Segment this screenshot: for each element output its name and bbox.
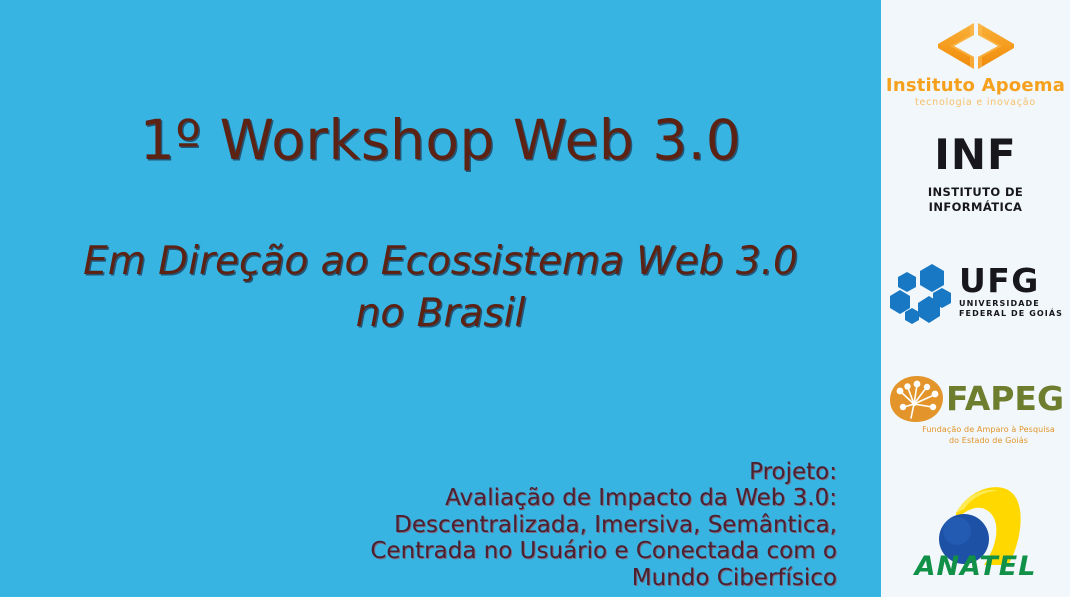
fapeg-subtitle-line-2: do Estado de Goiás <box>922 436 1055 447</box>
logo-fapeg: FAPEG Fundação de Amparo à Pesquisa do E… <box>881 355 1070 465</box>
apoema-tagline: tecnologia e inovação <box>915 97 1036 108</box>
inf-subtitle-line-2: INFORMÁTICA <box>929 200 1023 214</box>
presentation-slide: 1º Workshop Web 3.0 Em Direção ao Ecossi… <box>0 0 1070 597</box>
slide-main-area: 1º Workshop Web 3.0 Em Direção ao Ecossi… <box>0 0 881 597</box>
logo-instituto-apoema: Instituto Apoema tecnologia e inovação <box>881 0 1070 118</box>
subtitle-line-1: Em Direção ao Ecossistema Web 3.0 <box>0 236 881 288</box>
hexagon-cluster-icon <box>888 260 954 326</box>
anatel-name: ANATEL <box>915 553 1037 580</box>
apoema-name: Instituto Apoema <box>886 75 1065 96</box>
fapeg-name: FAPEG <box>946 382 1064 415</box>
fapeg-subtitle-line-1: Fundação de Amparo à Pesquisa <box>922 425 1055 436</box>
brain-network-icon <box>887 374 949 424</box>
project-line-4: Mundo Ciberfísico <box>370 565 837 591</box>
project-line-label: Projeto: <box>370 459 837 485</box>
title-block: 1º Workshop Web 3.0 <box>0 112 881 170</box>
ufg-acronym: UFG <box>959 265 1063 296</box>
inf-acronym: INF <box>934 134 1016 176</box>
page-title: 1º Workshop Web 3.0 <box>0 112 881 170</box>
ufg-subtitle-line-2: FEDERAL DE GOIÁS <box>959 309 1063 319</box>
fapeg-subtitle-block: Fundação de Amparo à Pesquisa do Estado … <box>922 425 1055 447</box>
subtitle-block: Em Direção ao Ecossistema Web 3.0 no Bra… <box>0 236 881 340</box>
project-line-1: Avaliação de Impacto da Web 3.0: <box>370 485 837 511</box>
subtitle-line-2: no Brasil <box>0 288 881 340</box>
logo-inf: INF INSTITUTO DE INFORMÁTICA <box>881 118 1070 230</box>
project-line-3: Centrada no Usuário e Conectada com o <box>370 538 837 564</box>
sponsor-logo-rail: Instituto Apoema tecnologia e inovação I… <box>881 0 1070 597</box>
logo-ufg: UFG UNIVERSIDADE FEDERAL DE GOIÁS <box>881 230 1070 355</box>
fapeg-row: FAPEG <box>887 374 1064 424</box>
inf-subtitle-line-1: INSTITUTO DE <box>928 185 1023 199</box>
project-credit-block: Projeto: Avaliação de Impacto da Web 3.0… <box>370 459 837 591</box>
logo-anatel: ANATEL <box>881 465 1070 597</box>
ufg-text-block: UFG UNIVERSIDADE FEDERAL DE GOIÁS <box>959 265 1063 319</box>
ufg-subtitle-line-1: UNIVERSIDADE <box>959 299 1063 309</box>
double-chevron-icon <box>916 18 1036 74</box>
project-line-2: Descentralizada, Imersiva, Semântica, <box>370 512 837 538</box>
